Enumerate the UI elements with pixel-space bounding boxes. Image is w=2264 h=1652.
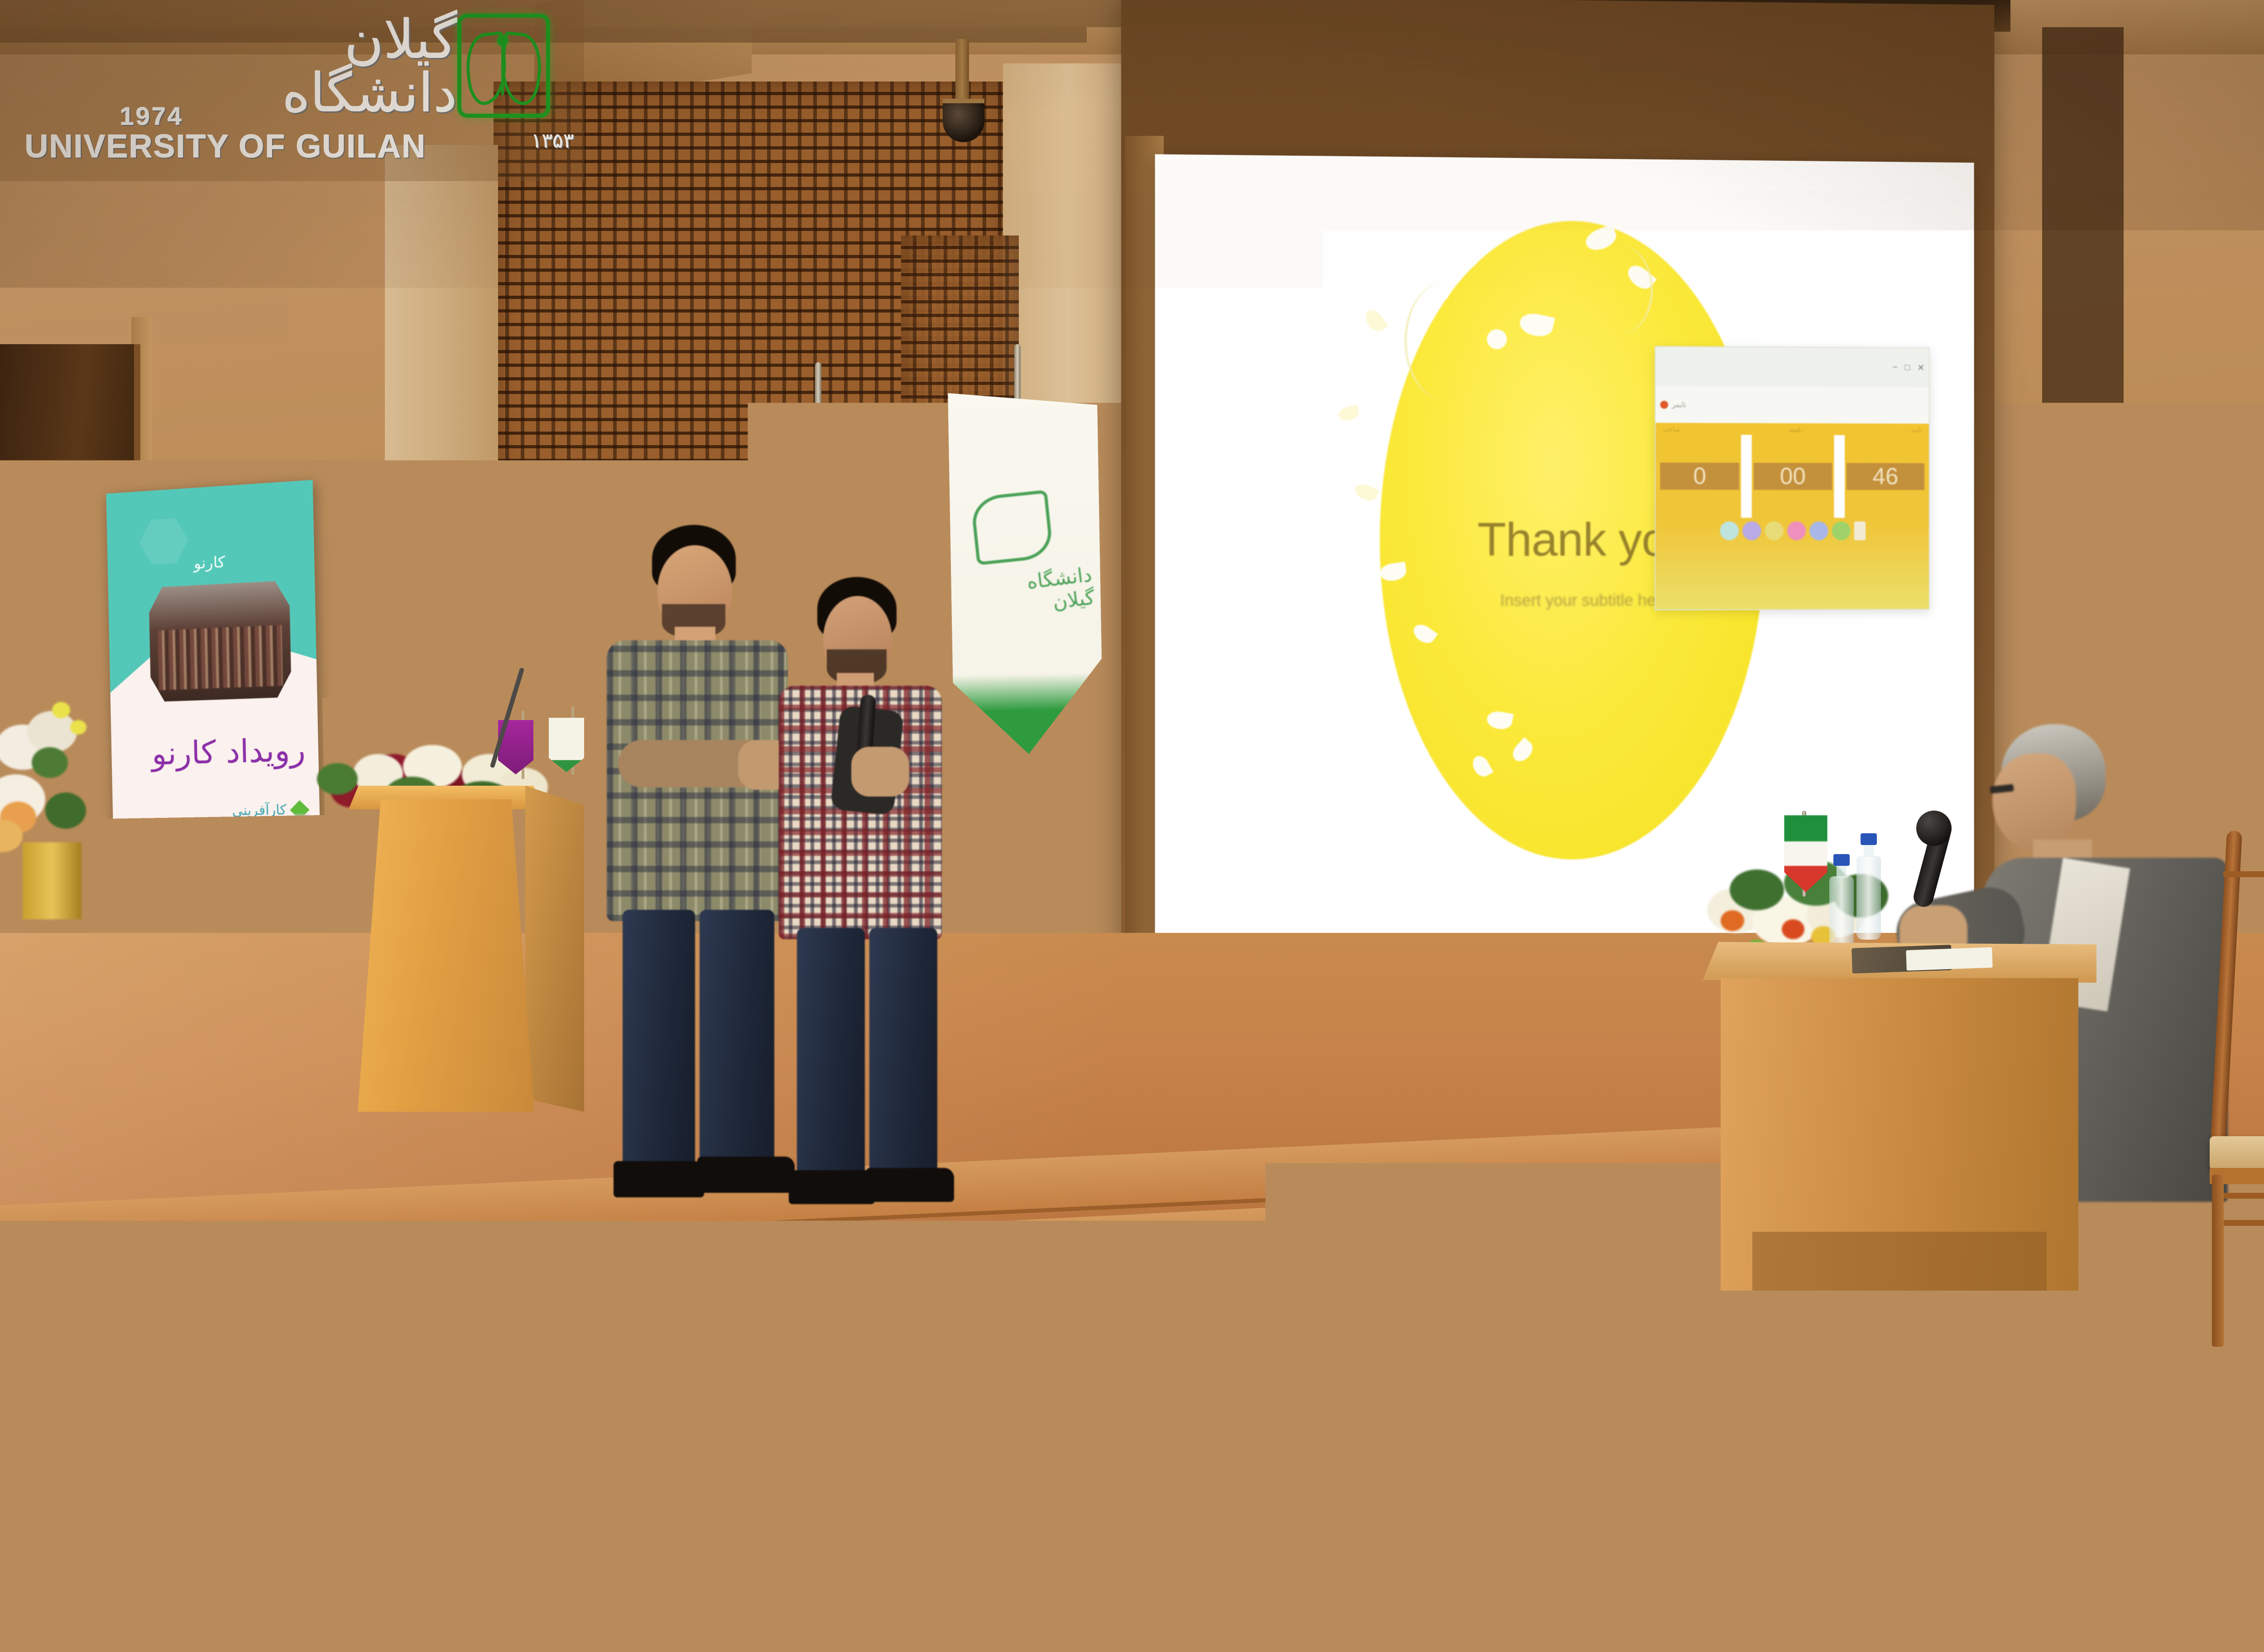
banner-sponsor-logos [288, 814, 318, 944]
sponsor-logo-icon [293, 814, 311, 830]
banner-bullet-item: جستجو و ثبت پتنت [126, 858, 308, 875]
presenter-left-shoe [697, 1157, 795, 1193]
banner-bullet-label: مالکیت فکری [211, 886, 288, 902]
emblem-pin-icon [497, 35, 508, 46]
glass-vase [1223, 1417, 1272, 1549]
water-bottle-cap [1861, 833, 1877, 845]
timer-digits: 0 : 00 : 46 [1660, 435, 1924, 518]
timer-hours: 0 [1660, 463, 1739, 490]
audience-front-head [91, 1490, 344, 1652]
timer-button-alarm[interactable] [1787, 522, 1806, 541]
timer-button-reset[interactable] [1765, 522, 1784, 541]
sponsor-logo-icon [294, 883, 312, 899]
dome-security-camera-icon [943, 99, 984, 142]
watermark-university-name: UNIVERSITY OF GUILAN [25, 130, 427, 164]
university-watermark: گیلان دانشگاه ۱۳۵۳ 1974 UNIVERSITY OF GU… [0, 0, 584, 181]
banner-bullet-item: مالکیت فکری [126, 886, 309, 903]
timer-button-start[interactable] [1720, 522, 1739, 541]
banner-bullet-item: تجاری سازی [125, 830, 308, 848]
sponsor-logo-icon [295, 929, 313, 944]
head-table-kickplate [1752, 1232, 2047, 1291]
auditorium-photograph: Thank you Insert your subtitle here − □ … [0, 0, 2264, 1652]
host-papers [1906, 947, 1992, 971]
timer-appbar: تایمر [1655, 386, 1929, 424]
banner-bullet-label: تجاری سازی [216, 830, 288, 847]
watermark-persian-line-1: گیلان [283, 13, 457, 66]
timer-button-info[interactable] [1854, 522, 1866, 541]
timer-label-minutes: دقیقه [1789, 426, 1803, 434]
timer-window[interactable]: − □ ✕ تایمر ساعت دقیقه ثانیه 0 [1655, 346, 1930, 610]
timer-control-buttons[interactable] [1660, 522, 1924, 541]
close-icon[interactable]: ✕ [1917, 362, 1924, 374]
timer-button-pause[interactable] [1742, 522, 1761, 541]
tissue-box-rose [247, 1410, 269, 1430]
water-bottle-cap [1833, 854, 1850, 866]
presenter-left-leg [700, 910, 774, 1191]
water-bottle-cap [156, 1318, 177, 1334]
timer-app-name: تایمر [1672, 400, 1686, 409]
podium-side-panel [525, 786, 584, 1112]
water-bottle-neck [159, 1332, 174, 1350]
slide-petal [1362, 307, 1388, 335]
seat-brand-badge: REZCO [1801, 1548, 1840, 1563]
timer-unit-labels: ساعت دقیقه ثانیه [1660, 426, 1924, 436]
flower-arrangement-left [0, 706, 122, 897]
banner-title: رویداد کارنو [123, 731, 306, 773]
audience-plaid-shirt [1463, 1582, 1761, 1652]
audience-laptop-hand [2001, 1641, 2074, 1652]
watermark-founding-year: 1974 [120, 103, 427, 130]
watermark-english-name: 1974 UNIVERSITY OF GUILAN [25, 103, 427, 164]
watermark-persian-year: ۱۳۵۳ [531, 130, 574, 153]
tissue-box-rose [192, 1407, 213, 1426]
presenter-right-leg [869, 928, 937, 1200]
host-microphone-head-icon [1916, 811, 1952, 846]
timer-label-hours: ساعت [1663, 426, 1680, 433]
foliage [45, 792, 86, 829]
slide-petal [1353, 481, 1380, 504]
timer-body: ساعت دقیقه ثانیه 0 : 00 : 46 [1655, 423, 1929, 609]
slide-stem [1405, 282, 1487, 401]
panel-host-head [1992, 754, 2076, 851]
sponsor-logo-icon [294, 906, 313, 922]
seat-highlight-line [1329, 1578, 1564, 1580]
banner-bullet-label: کارآفرینی [232, 802, 287, 819]
timer-minutes: 00 [1754, 463, 1832, 490]
foliage [317, 763, 358, 795]
minimize-icon[interactable]: − [1892, 362, 1897, 373]
audience-suit-hand [1070, 1434, 1131, 1491]
audience-suit-collar [1055, 1410, 1105, 1442]
sponsor-logo-icon [293, 837, 312, 853]
presenter-left-leg [623, 910, 695, 1191]
tissue-box-rose [301, 1410, 326, 1430]
flower-orange [1721, 910, 1744, 931]
projection-screen: Thank you Insert your subtitle here − □ … [1155, 154, 1974, 942]
banner-bullet-list: کارآفرینی تجاری سازی جستجو و ثبت پتنت ما… [125, 802, 309, 941]
water-bottle [1856, 856, 1881, 940]
flower-white [27, 711, 77, 753]
water-bottle-neck [1837, 864, 1847, 878]
banner-bullet-item: انتقال تجارب کارآفرینی [127, 914, 309, 930]
chair-seat-cushion [2210, 1136, 2264, 1170]
timer-label-seconds: ثانیه [1911, 427, 1922, 434]
flower-yellow [52, 702, 70, 718]
chair-back-slat [2223, 871, 2264, 877]
timer-titlebar[interactable]: − □ ✕ [1655, 347, 1929, 388]
chair-stretcher [2219, 1193, 2264, 1199]
chair-leg [2212, 1175, 2224, 1347]
timer-separator-1: : [1741, 435, 1752, 518]
timer-app-icon [1660, 400, 1668, 408]
water-bottle-neck [1864, 843, 1874, 857]
audience-plaid-head [1521, 1410, 1693, 1605]
banner-bullet-label: انتقال تجارب کارآفرینی [158, 914, 289, 930]
timer-button-share[interactable] [1832, 522, 1850, 541]
timer-separator-2: : [1834, 435, 1845, 518]
tissue-box-leaf [205, 1431, 232, 1449]
rollup-banner: کارنو رویداد کارنو کارآفرینی تجاری سازی … [106, 480, 326, 1099]
slide-stem [1585, 244, 1653, 335]
flower-red [1782, 919, 1804, 939]
camera-mount [955, 39, 969, 107]
tissue-box [179, 1388, 340, 1458]
slide-petal [1337, 404, 1361, 423]
emblem-pin-stem [501, 45, 504, 95]
audience-front-head [408, 1540, 598, 1652]
presenter-right-hands [851, 747, 909, 797]
banner-bullet-item: کارآفرینی [125, 802, 307, 821]
chair-stretcher [2219, 1220, 2264, 1226]
presenter-right-shoe [789, 1170, 875, 1204]
presenter-right-leg [797, 928, 865, 1200]
iran-flag-emblem [860, 480, 892, 506]
banner-bullet-label: جستجو و ثبت پتنت [181, 858, 288, 875]
timer-button-settings[interactable] [1809, 522, 1828, 541]
presentation-slide: Thank you Insert your subtitle here − □ … [1155, 154, 1974, 942]
flower-yellow [70, 720, 86, 735]
tissue-box-leaf [263, 1433, 291, 1450]
flower-vase [23, 842, 82, 919]
seat-highlight-line [1706, 1494, 1939, 1496]
podium-lectern [358, 799, 534, 1112]
seat-highlight-line [2239, 1516, 2264, 1518]
sponsor-logo-icon [293, 860, 312, 876]
banner-crowd-photo [149, 580, 292, 702]
presenter-right-shoe [866, 1168, 954, 1202]
foliage [1730, 869, 1784, 910]
seat-brand-badge: REZCO [1426, 1533, 1465, 1548]
presenter-left-shoe [614, 1161, 704, 1197]
foliage [32, 747, 68, 778]
timer-seconds: 46 [1847, 463, 1925, 490]
timer-status-bar: Timer counting down Help online-timer [1655, 609, 1929, 610]
maximize-icon[interactable]: □ [1904, 363, 1910, 373]
